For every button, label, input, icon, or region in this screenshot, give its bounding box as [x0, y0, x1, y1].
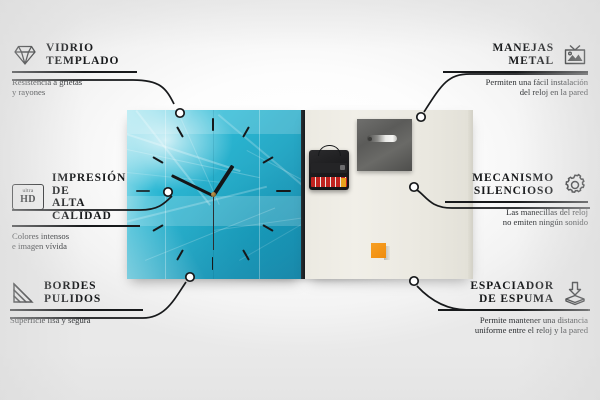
callout-description: Permite mantener una distancia uniforme … — [438, 315, 588, 336]
callout-rule — [438, 309, 588, 311]
picture-frame-icon — [562, 42, 588, 68]
callout-bordes-pulidos[interactable]: BORDES PULIDOS Superficie lisa y segura — [10, 280, 143, 325]
callout-rule — [443, 71, 588, 73]
product-image — [127, 110, 473, 279]
ultra-hd-icon-main: HD — [20, 195, 36, 205]
callout-title: IMPRESIÓN DE ALTA CALIDAD — [52, 172, 140, 222]
callout-description: Permiten una fácil instalación del reloj… — [443, 77, 588, 98]
hanger-keyhole-slot — [367, 135, 397, 142]
callout-manejas-metal[interactable]: MANEJAS METAL Permiten una fácil instala… — [443, 42, 588, 97]
gear-icon — [562, 172, 588, 198]
clock-tick — [276, 190, 291, 192]
clock-tick — [212, 118, 214, 131]
callout-mecanismo-silencioso[interactable]: MECANISMO SILENCIOSO Las manecillas del … — [445, 172, 588, 227]
clock-second-hand — [213, 194, 214, 250]
callout-title: ESPACIADOR DE ESPUMA — [470, 280, 554, 305]
callout-title: MECANISMO SILENCIOSO — [472, 172, 554, 197]
callout-description: Resistencia a grietas y rayones — [12, 77, 137, 98]
foam-spacer — [371, 243, 386, 258]
ultra-hd-icon: ultra HD — [12, 184, 44, 210]
clock-center-hub — [211, 192, 216, 197]
metal-hanger-plate — [357, 119, 412, 171]
press-down-icon — [562, 280, 588, 306]
callout-espaciador-de-espuma[interactable]: ESPACIADOR DE ESPUMA Permite mantener un… — [438, 280, 588, 335]
callout-impresion-alta-calidad[interactable]: ultra HD IMPRESIÓN DE ALTA CALIDAD Color… — [12, 172, 140, 252]
diamond-icon — [12, 42, 38, 68]
clock-movement-mechanism — [309, 150, 349, 190]
callout-title: MANEJAS METAL — [492, 42, 554, 67]
callout-description: Colores intensos e imagen vívida — [12, 231, 140, 252]
callout-title: BORDES PULIDOS — [44, 280, 101, 305]
callout-description: Las manecillas del reloj no emiten ningú… — [445, 207, 588, 228]
callout-vidrio-templado[interactable]: VIDRIO TEMPLADO Resistencia a grietas y … — [12, 42, 137, 97]
callout-title: VIDRIO TEMPLADO — [46, 42, 119, 67]
clock-tick — [176, 249, 184, 260]
clock-front-panel — [127, 110, 302, 279]
polished-edges-icon — [10, 280, 36, 306]
callout-description: Superficie lisa y segura — [10, 315, 143, 325]
callout-rule — [12, 71, 137, 73]
callout-rule — [10, 309, 143, 311]
infographic-canvas: VIDRIO TEMPLADO Resistencia a grietas y … — [0, 0, 600, 400]
callout-rule — [445, 201, 588, 203]
callout-rule — [12, 225, 140, 227]
